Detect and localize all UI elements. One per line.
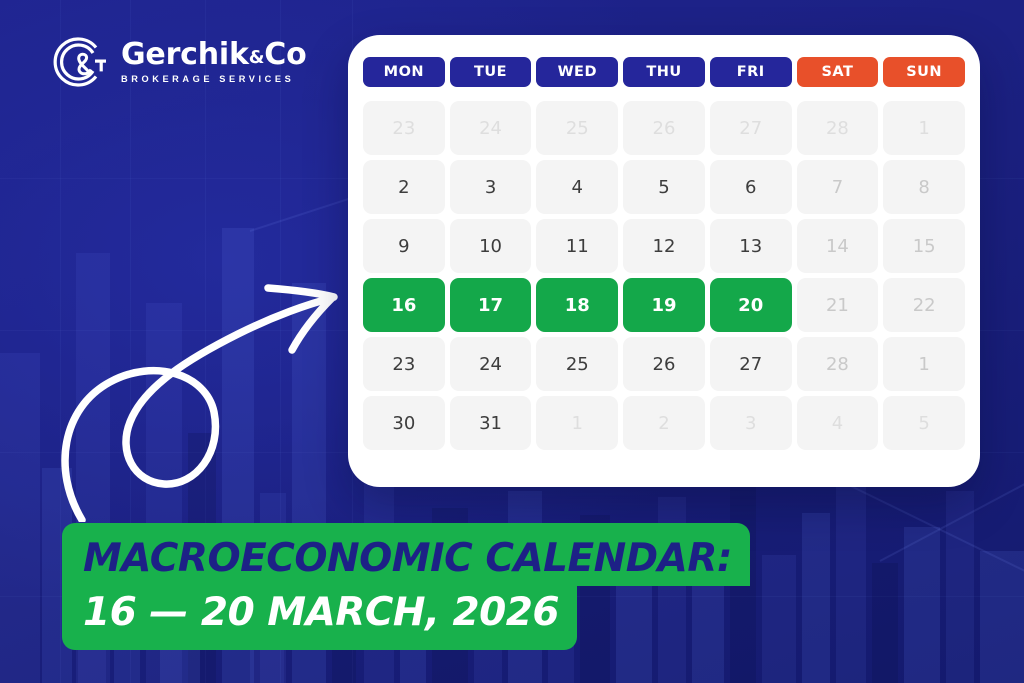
calendar-day-cell[interactable]: 10 [450, 219, 532, 273]
calendar-day-cell[interactable]: 28 [797, 101, 879, 155]
calendar-day-cell[interactable]: 5 [883, 396, 965, 450]
weekday-header-sun: SUN [883, 57, 965, 87]
weekday-header-wed: WED [536, 57, 618, 87]
calendar-card: MONTUEWEDTHUFRISATSUN2324252627281234567… [348, 35, 980, 487]
calendar-day-cell[interactable]: 2 [623, 396, 705, 450]
poster-title: MACROECONOMIC CALENDAR: 16 — 20 MARCH, 2… [62, 523, 750, 650]
calendar-day-cell[interactable]: 11 [536, 219, 618, 273]
calendar-day-cell[interactable]: 24 [450, 101, 532, 155]
calendar-grid: MONTUEWEDTHUFRISATSUN2324252627281234567… [363, 57, 965, 450]
brand-wordmark: Gerchik&Co [121, 40, 306, 71]
calendar-day-cell[interactable]: 26 [623, 101, 705, 155]
calendar-day-cell[interactable]: 21 [797, 278, 879, 332]
calendar-day-cell[interactable]: 15 [883, 219, 965, 273]
calendar-day-cell[interactable]: 18 [536, 278, 618, 332]
calendar-day-cell[interactable]: 27 [710, 101, 792, 155]
calendar-day-cell[interactable]: 23 [363, 337, 445, 391]
brand-name-part1: Gerchik [121, 37, 249, 72]
hand-drawn-loop-arrow-up-right-icon [46, 262, 346, 527]
calendar-day-cell[interactable]: 16 [363, 278, 445, 332]
calendar-day-cell[interactable]: 14 [797, 219, 879, 273]
weekday-header-thu: THU [623, 57, 705, 87]
calendar-day-cell[interactable]: 1 [883, 101, 965, 155]
calendar-day-cell[interactable]: 28 [797, 337, 879, 391]
calendar-day-cell[interactable]: 5 [623, 160, 705, 214]
calendar-day-cell[interactable]: 31 [450, 396, 532, 450]
weekday-header-sat: SAT [797, 57, 879, 87]
calendar-day-cell[interactable]: 2 [363, 160, 445, 214]
calendar-day-cell[interactable]: 22 [883, 278, 965, 332]
calendar-day-cell[interactable]: 12 [623, 219, 705, 273]
calendar-day-cell[interactable]: 24 [450, 337, 532, 391]
calendar-day-cell[interactable]: 19 [623, 278, 705, 332]
calendar-day-cell[interactable]: 1 [883, 337, 965, 391]
calendar-day-cell[interactable]: 3 [710, 396, 792, 450]
title-line-2: 16 — 20 MARCH, 2026 [62, 585, 577, 650]
calendar-day-cell[interactable]: 25 [536, 101, 618, 155]
calendar-day-cell[interactable]: 30 [363, 396, 445, 450]
weekday-header-mon: MON [363, 57, 445, 87]
calendar-day-cell[interactable]: 9 [363, 219, 445, 273]
brand-tagline: BROKERAGE SERVICES [121, 74, 306, 84]
calendar-day-cell[interactable]: 23 [363, 101, 445, 155]
weekday-header-fri: FRI [710, 57, 792, 87]
calendar-day-cell[interactable]: 25 [536, 337, 618, 391]
gerchik-circle-mark-icon [52, 34, 108, 90]
calendar-day-cell[interactable]: 13 [710, 219, 792, 273]
calendar-day-cell[interactable]: 8 [883, 160, 965, 214]
calendar-day-cell[interactable]: 17 [450, 278, 532, 332]
calendar-day-cell[interactable]: 7 [797, 160, 879, 214]
poster-canvas: Gerchik&Co BROKERAGE SERVICES MONTUEWEDT… [0, 0, 1024, 683]
calendar-day-cell[interactable]: 27 [710, 337, 792, 391]
brand-ampersand: & [249, 47, 265, 68]
brand-logo: Gerchik&Co BROKERAGE SERVICES [52, 34, 306, 90]
calendar-day-cell[interactable]: 6 [710, 160, 792, 214]
weekday-header-tue: TUE [450, 57, 532, 87]
calendar-day-cell[interactable]: 3 [450, 160, 532, 214]
calendar-day-cell[interactable]: 26 [623, 337, 705, 391]
brand-name-part2: Co [264, 37, 306, 72]
calendar-day-cell[interactable]: 1 [536, 396, 618, 450]
calendar-day-cell[interactable]: 20 [710, 278, 792, 332]
calendar-day-cell[interactable]: 4 [797, 396, 879, 450]
grid-spacer [363, 92, 965, 96]
calendar-day-cell[interactable]: 4 [536, 160, 618, 214]
title-line-1: MACROECONOMIC CALENDAR: [62, 523, 750, 586]
